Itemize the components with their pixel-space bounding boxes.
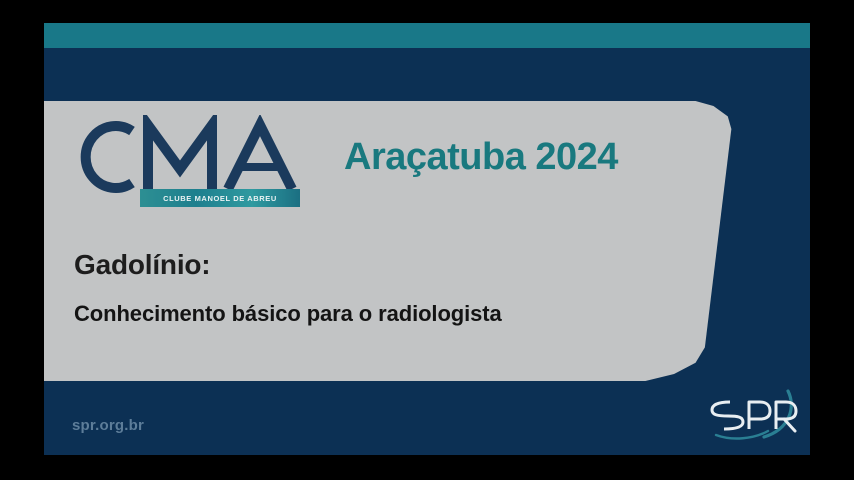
slide-content-panel: CLUBE MANOEL DE ABREU Araçatuba 2024 Gad… xyxy=(44,101,760,381)
lecture-heading: Gadolínio: xyxy=(74,249,210,281)
cma-logo: CLUBE MANOEL DE ABREU xyxy=(76,115,304,211)
spr-logo xyxy=(696,385,800,443)
cma-acronym-letters xyxy=(76,115,304,195)
cma-tagline-bar: CLUBE MANOEL DE ABREU xyxy=(140,189,300,207)
lecture-subtitle: Conhecimento básico para o radiologista xyxy=(74,301,502,327)
footer-website-url: spr.org.br xyxy=(72,417,144,434)
spr-swoosh-lower-icon xyxy=(716,431,768,438)
event-title: Araçatuba 2024 xyxy=(344,136,618,179)
cma-tagline-text: CLUBE MANOEL DE ABREU xyxy=(163,194,277,203)
slide-top-accent-stripe xyxy=(44,23,810,48)
presentation-slide: CLUBE MANOEL DE ABREU Araçatuba 2024 Gad… xyxy=(44,23,810,455)
video-letterbox-frame: CLUBE MANOEL DE ABREU Araçatuba 2024 Gad… xyxy=(0,0,854,480)
